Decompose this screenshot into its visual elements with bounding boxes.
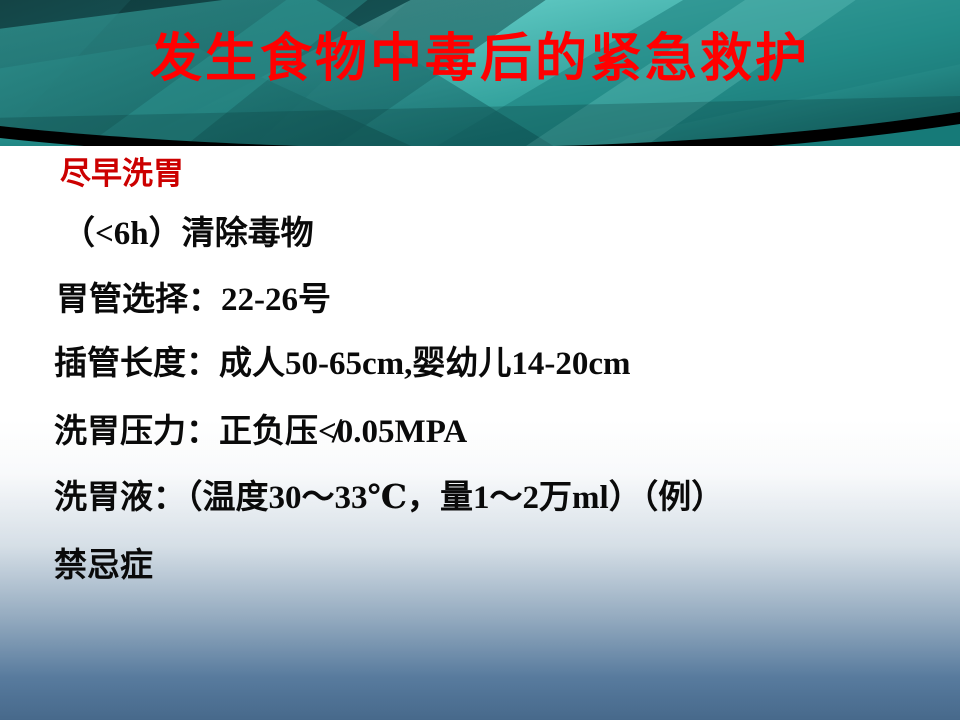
slide-header-banner: 发生食物中毒后的紧急救护 [0,0,960,146]
slide-title: 发生食物中毒后的紧急救护 [0,33,960,88]
body-line-jinjizheng: 禁忌症 [54,550,153,583]
body-line-qingchu-duwu: （<6h）清除毒物 [62,218,314,251]
body-line-jinzao-xiwei: 尽早洗胃 [60,158,184,189]
body-line-xiwei-yali: 洗胃压力：正负压≮0.05MPA [54,416,467,449]
body-line-xiwei-ye: 洗胃液：（温度30～33℃，量1～2万ml）（例） [54,482,724,515]
body-line-chaguan-changdu: 插管长度：成人50-65cm,婴幼儿14-20cm [54,348,631,381]
body-line-weiguan-xuanze: 胃管选择：22-26号 [56,284,331,317]
presentation-slide: 发生食物中毒后的紧急救护 尽早洗胃 （<6h）清除毒物 胃管选择：22-26号 … [0,0,960,720]
